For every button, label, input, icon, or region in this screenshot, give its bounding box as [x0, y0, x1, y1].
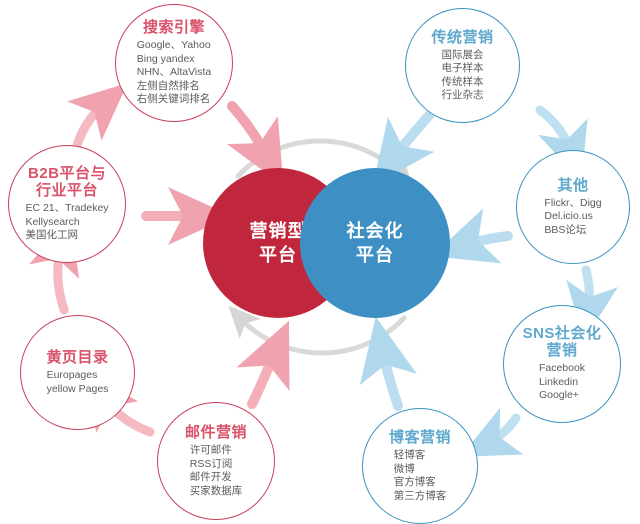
bubble-line: 轻博客: [394, 449, 447, 463]
bubble-lines-email-marketing: 许可邮件 RSS订阅 邮件开发 买家数据库: [190, 444, 243, 498]
bubble-title-blog-marketing: 博客营销: [389, 429, 451, 446]
bubble-line: 官方博客: [394, 476, 447, 490]
bubble-line: BBS论坛: [544, 224, 601, 238]
bubble-title-line-1: B2B平台与: [28, 165, 106, 182]
bubble-others[interactable]: 其他 Flickr、Digg Del.icio.us BBS论坛: [516, 150, 630, 264]
core-circle-social-platform[interactable]: 社会化 平台: [300, 168, 450, 318]
bubble-search-engine[interactable]: 搜索引擎 Google、Yahoo Bing yandex NHN、AltaVi…: [115, 4, 233, 122]
bubble-line: Google+: [539, 389, 585, 403]
bubble-line: 微博: [394, 463, 447, 477]
bubble-title-email-marketing: 邮件营销: [185, 424, 247, 441]
bubble-email-marketing[interactable]: 邮件营销 许可邮件 RSS订阅 邮件开发 买家数据库: [157, 402, 275, 520]
feed-arrow-others-to-core: [462, 236, 508, 246]
bubble-line: Linkedin: [539, 376, 585, 390]
bubble-title-line-2: 营销: [523, 342, 602, 359]
diagram-canvas: 营销型 平台 社会化 平台 搜索引擎 Google、Yahoo Bing yan…: [0, 0, 640, 524]
feed-arrow-blog-to-core: [382, 348, 398, 406]
bubble-line: EC 21、Tradekey: [25, 202, 108, 216]
bubble-sns-marketing[interactable]: SNS社会化 营销 Facebook Linkedin Google+: [503, 305, 621, 423]
bubble-lines-sns-marketing: Facebook Linkedin Google+: [539, 362, 585, 403]
bubble-line: Kellysearch: [25, 216, 108, 230]
bubble-line: 右侧关键词排名: [137, 93, 212, 107]
feed-arrow-search-to-core: [232, 106, 268, 158]
flow-arrow-traditional-to-others: [540, 110, 572, 154]
core-label-line-1: 营销型: [250, 219, 307, 243]
bubble-line: 行业杂志: [442, 89, 484, 103]
bubble-line: Facebook: [539, 362, 585, 376]
bubble-line: NHN、AltaVista: [137, 66, 212, 80]
core-label-line-2: 平台: [347, 243, 404, 267]
bubble-lines-yellow-pages: Europages yellow Pages: [47, 369, 109, 396]
bubble-line: 邮件开发: [190, 471, 243, 485]
bubble-line: Del.icio.us: [544, 210, 601, 224]
bubble-title-b2b-platform: B2B平台与 行业平台: [28, 165, 106, 199]
core-label-line-2: 平台: [250, 243, 307, 267]
bubble-title-sns-marketing: SNS社会化 营销: [523, 325, 602, 359]
bubble-line: Europages: [47, 369, 109, 383]
bubble-b2b-platform[interactable]: B2B平台与 行业平台 EC 21、Tradekey Kellysearch 美…: [8, 145, 126, 263]
bubble-line: 电子样本: [442, 62, 484, 76]
bubble-line: 许可邮件: [190, 444, 243, 458]
bubble-line: 第三方博客: [394, 490, 447, 504]
bubble-lines-traditional-marketing: 国际展会 电子样本 传统样本 行业杂志: [442, 49, 484, 103]
bubble-blog-marketing[interactable]: 博客营销 轻博客 微博 官方博客 第三方博客: [362, 408, 478, 524]
core-label-marketing-platform: 营销型 平台: [250, 219, 307, 267]
bubble-traditional-marketing[interactable]: 传统营销 国际展会 电子样本 传统样本 行业杂志: [405, 8, 520, 123]
bubble-line: 国际展会: [442, 49, 484, 63]
bubble-line: yellow Pages: [47, 383, 109, 397]
bubble-lines-search-engine: Google、Yahoo Bing yandex NHN、AltaVista 左…: [137, 39, 212, 107]
bubble-title-others: 其他: [557, 177, 588, 194]
bubble-line: RSS订阅: [190, 458, 243, 472]
bubble-title-traditional-marketing: 传统营销: [431, 29, 493, 46]
bubble-title-search-engine: 搜索引擎: [143, 19, 205, 36]
bubble-line: 美国化工网: [25, 229, 108, 243]
flow-arrow-sns-to-blog: [486, 418, 516, 444]
bubble-yellow-pages[interactable]: 黄页目录 Europages yellow Pages: [20, 315, 135, 430]
bubble-line: Bing yandex: [137, 53, 212, 67]
bubble-title-line-1: SNS社会化: [523, 325, 602, 342]
bubble-line: Google、Yahoo: [137, 39, 212, 53]
bubble-lines-b2b-platform: EC 21、Tradekey Kellysearch 美国化工网: [25, 202, 108, 243]
bubble-lines-others: Flickr、Digg Del.icio.us BBS论坛: [544, 197, 601, 238]
bubble-title-yellow-pages: 黄页目录: [46, 349, 108, 366]
orbit-arrow-bottom: [240, 318, 404, 353]
bubble-lines-blog-marketing: 轻博客 微博 官方博客 第三方博客: [394, 449, 447, 503]
bubble-line: 买家数据库: [190, 485, 243, 499]
bubble-line: 左侧自然排名: [137, 80, 212, 94]
feed-arrow-email-to-core: [252, 350, 276, 404]
flow-arrow-others-to-sns: [586, 270, 589, 312]
core-label-line-1: 社会化: [347, 219, 404, 243]
bubble-title-line-2: 行业平台: [28, 182, 106, 199]
bubble-line: 传统样本: [442, 76, 484, 90]
core-label-social-platform: 社会化 平台: [347, 219, 404, 267]
feed-arrow-traditional-to-core: [392, 112, 432, 160]
bubble-line: Flickr、Digg: [544, 197, 601, 211]
